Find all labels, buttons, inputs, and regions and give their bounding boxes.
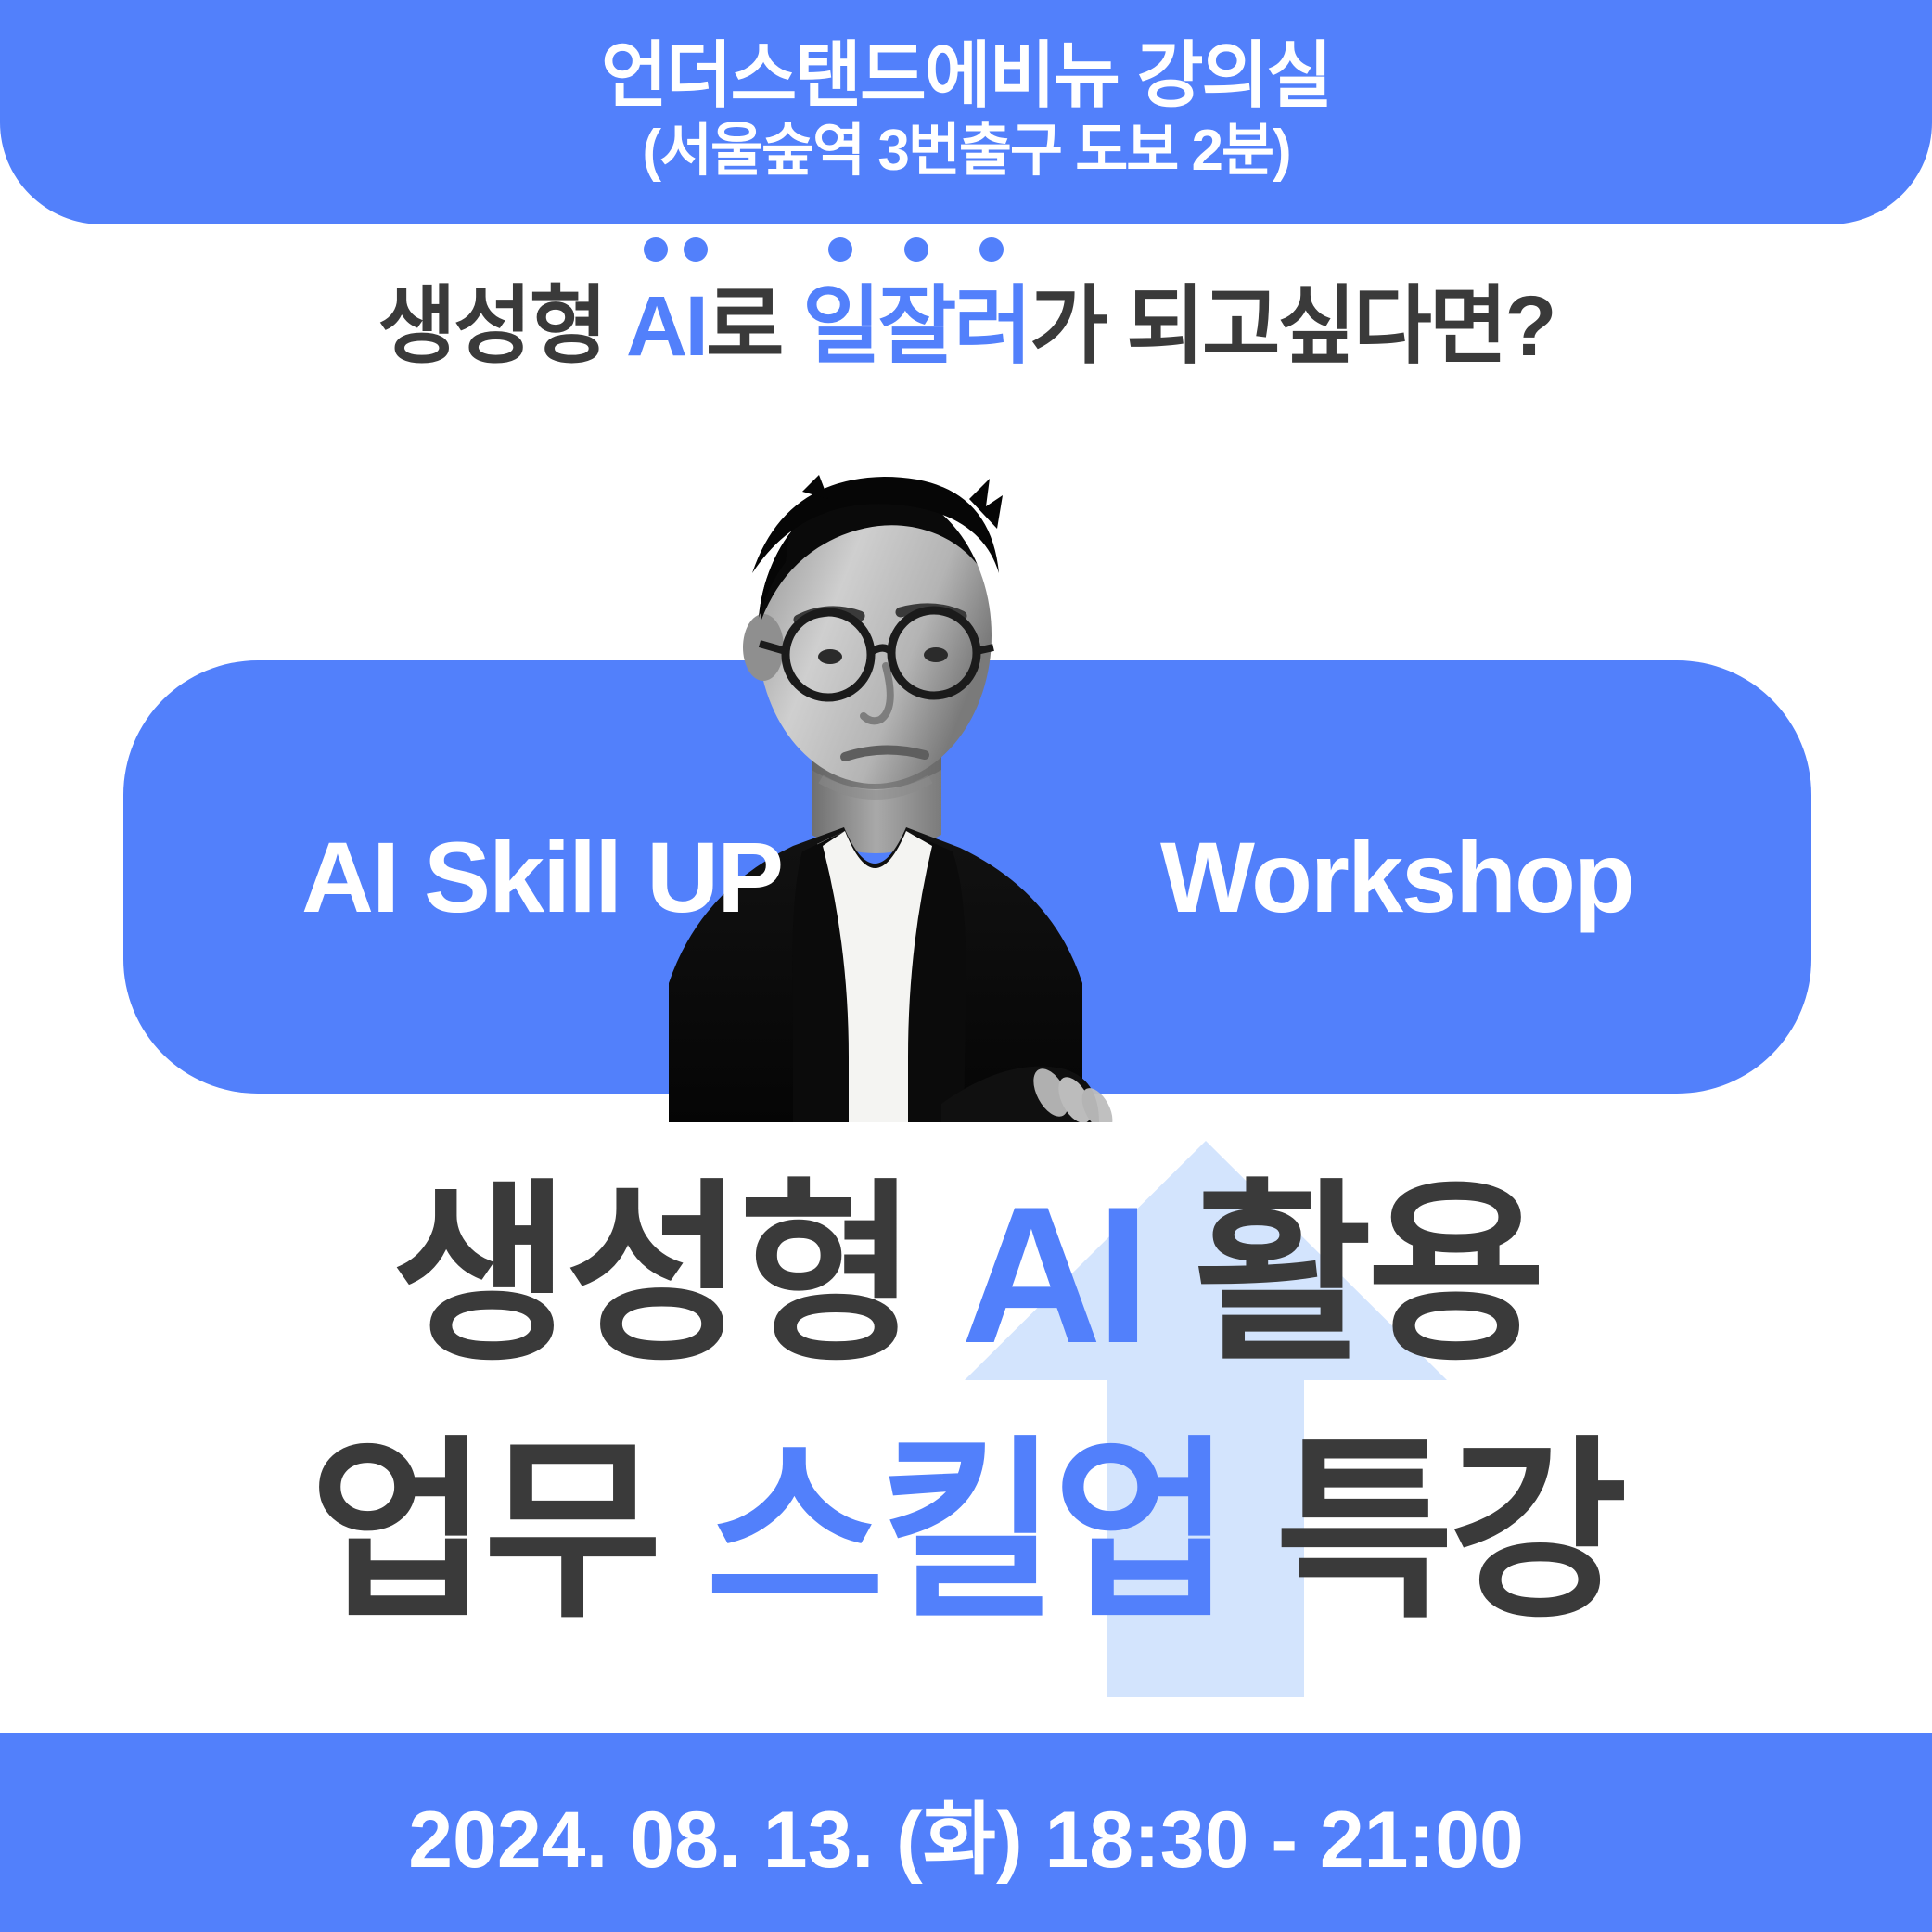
subtitle-dotted-a: A <box>626 278 685 377</box>
headline-1-seg-1: 생성형 <box>391 1166 961 1384</box>
venue-title: 언더스탠드에비뉴 강의실 <box>601 38 1331 114</box>
subtitle-dotted-k1: 일 <box>802 278 878 377</box>
headline-1-accent: AI <box>961 1166 1145 1384</box>
subtitle-text: 생성형 AI로 일잘러가 되고싶다면? <box>377 278 1554 377</box>
subtitle-segment-2: 로 <box>706 279 802 374</box>
headline-2-accent: 스킬업 <box>706 1423 1227 1641</box>
headline-2-seg-2: 특강 <box>1226 1423 1622 1641</box>
subtitle-dotted-k2: 잘 <box>878 278 954 377</box>
headline-line-1: 생성형 AI 활용 <box>0 1146 1932 1403</box>
venue-directions: (서울숲역 3번출구 도보 2분) <box>642 118 1289 184</box>
subtitle-segment-3: 가 되고싶다면? <box>1030 279 1555 374</box>
subtitle-dotted-i: I <box>685 278 706 377</box>
event-poster: 언더스탠드에비뉴 강의실 (서울숲역 3번출구 도보 2분) 생성형 AI로 일… <box>0 0 1932 1932</box>
subtitle-segment-1: 생성형 <box>377 279 625 374</box>
headline-line-2: 업무 스킬업 특강 <box>0 1403 1932 1660</box>
subtitle-dotted-k3: 러 <box>953 278 1030 377</box>
footer-band: 2024. 08. 13. (화) 18:30 - 21:00 <box>0 1733 1932 1932</box>
header-band: 언더스탠드에비뉴 강의실 (서울숲역 3번출구 도보 2분) <box>0 0 1932 224</box>
event-datetime: 2024. 08. 13. (화) 18:30 - 21:00 <box>408 1774 1524 1890</box>
subtitle-wrap: 생성형 AI로 일잘러가 되고싶다면? <box>0 278 1932 377</box>
headline-block: 생성형 AI 활용 업무 스킬업 특강 <box>0 1146 1932 1660</box>
instructor-photo <box>663 464 1275 1122</box>
headline-1-seg-2: 활용 <box>1145 1166 1541 1384</box>
headline-2-seg-1: 업무 <box>310 1423 706 1641</box>
